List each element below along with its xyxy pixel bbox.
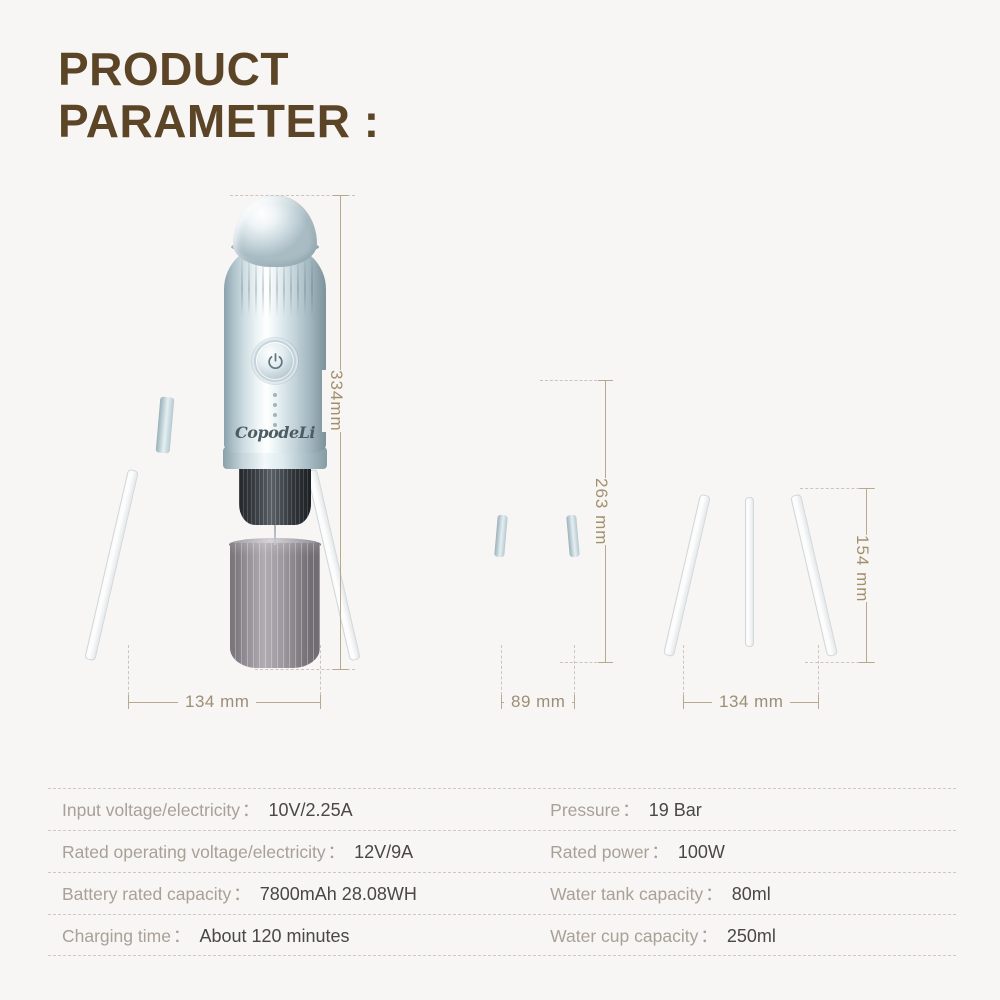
dim-cap-right-p3 [818,695,819,709]
led-dot [273,413,277,417]
spec-separator: ： [231,881,253,906]
spec-cell-left: Charging time ： About 120 minutes [48,923,520,948]
spec-label: Rated operating voltage/electricity [62,842,326,863]
led-dot [273,393,277,397]
spec-table: Input voltage/electricity ： 10V/2.25A Pr… [48,788,956,956]
power-icon [266,352,285,371]
spec-cell-right: Water tank capacity ： 80ml [520,881,956,906]
spec-separator: ： [326,839,348,864]
spec-value: About 120 minutes [192,926,349,947]
dim-cap-left-p1 [128,695,129,709]
dim-label-width-p2: 89 mm [504,692,572,712]
spec-value: 12V/9A [347,842,413,863]
dim-cap-left-p3 [683,695,684,709]
spec-cell-right: Pressure ： 19 Bar [520,797,956,822]
spec-row: Rated operating voltage/electricity ： 12… [48,830,956,872]
stand-leg-left [84,469,139,661]
product-illustration-stage: CopodeLi 334mm 134 mm [0,175,1000,735]
spec-label: Water cup capacity [550,926,698,947]
dim-ext-right-p2 [574,645,575,695]
spec-cell-left: Battery rated capacity ： 7800mAh 28.08WH [48,881,520,906]
spec-label: Rated power [550,842,649,863]
dim-line-height-p1 [340,195,341,669]
spec-separator: ： [171,923,193,948]
dim-label-height-p1: 334mm [322,370,350,432]
spec-value: 250ml [720,926,776,947]
spec-row: Input voltage/electricity ： 10V/2.25A Pr… [48,788,956,830]
dim-ext-left-p3 [683,645,684,695]
led-dot [273,403,277,407]
dome-cap [233,195,317,267]
dim-cap-right-p1 [320,695,321,709]
spec-label: Battery rated capacity [62,884,231,905]
page-title: PRODUCT PARAMETER : [58,44,380,147]
spec-row: Charging time ： About 120 minutes Water … [48,914,956,956]
spec-label: Pressure [550,800,620,821]
spec-label: Charging time [62,926,171,947]
spec-separator: ： [703,881,725,906]
dim-ext-left-p2 [501,645,502,695]
spec-value: 7800mAh 28.08WH [253,884,417,905]
dim-cap-top-p1 [333,195,348,196]
dim-label-height-p3: 154 mm [848,535,876,602]
dim-label-width-p1: 134 mm [178,692,256,712]
spec-separator: ： [649,839,671,864]
body-fin-left [494,515,508,558]
spec-value: 10V/2.25A [262,800,353,821]
stand-leg-left [663,494,711,657]
group-head [239,463,311,525]
dim-cap-top-p3 [859,488,874,489]
spec-separator: ： [240,797,262,822]
dim-ext-left-p1 [128,645,129,695]
spec-cell-left: Rated operating voltage/electricity ： 12… [48,839,520,864]
dim-cap-bottom-p2 [598,662,613,663]
dim-ext-right-p1 [320,645,321,695]
stand-leg-right [790,494,838,657]
dim-cap-bottom-p1 [333,669,348,670]
spec-cell-right: Water cup capacity ： 250ml [520,923,956,948]
spec-cell-right: Rated power ： 100W [520,839,956,864]
dim-cap-right-p2 [574,695,575,709]
dim-cap-bottom-p3 [859,662,874,663]
dim-cap-top-p2 [598,380,613,381]
spec-row: Battery rated capacity ： 7800mAh 28.08WH… [48,872,956,914]
dim-label-width-p3: 134 mm [712,692,790,712]
spec-label: Water tank capacity [550,884,703,905]
brand-wordmark: CopodeLi [235,423,315,442]
body-fin-right [566,515,580,558]
spec-value: 80ml [725,884,771,905]
water-cup [230,543,320,668]
dim-cap-left-p2 [501,695,502,709]
spec-cell-left: Input voltage/electricity ： 10V/2.25A [48,797,520,822]
spec-separator: ： [620,797,642,822]
body-fin-left [156,396,175,453]
spec-label: Input voltage/electricity [62,800,240,821]
spec-value: 100W [671,842,725,863]
led-indicator-group [273,393,277,427]
dim-label-height-p2: 263 mm [587,478,615,545]
dim-ext-right-p3 [818,645,819,695]
spec-separator: ： [698,923,720,948]
power-button[interactable] [256,342,294,380]
stand-leg-center [745,497,754,647]
spec-value: 19 Bar [642,800,702,821]
